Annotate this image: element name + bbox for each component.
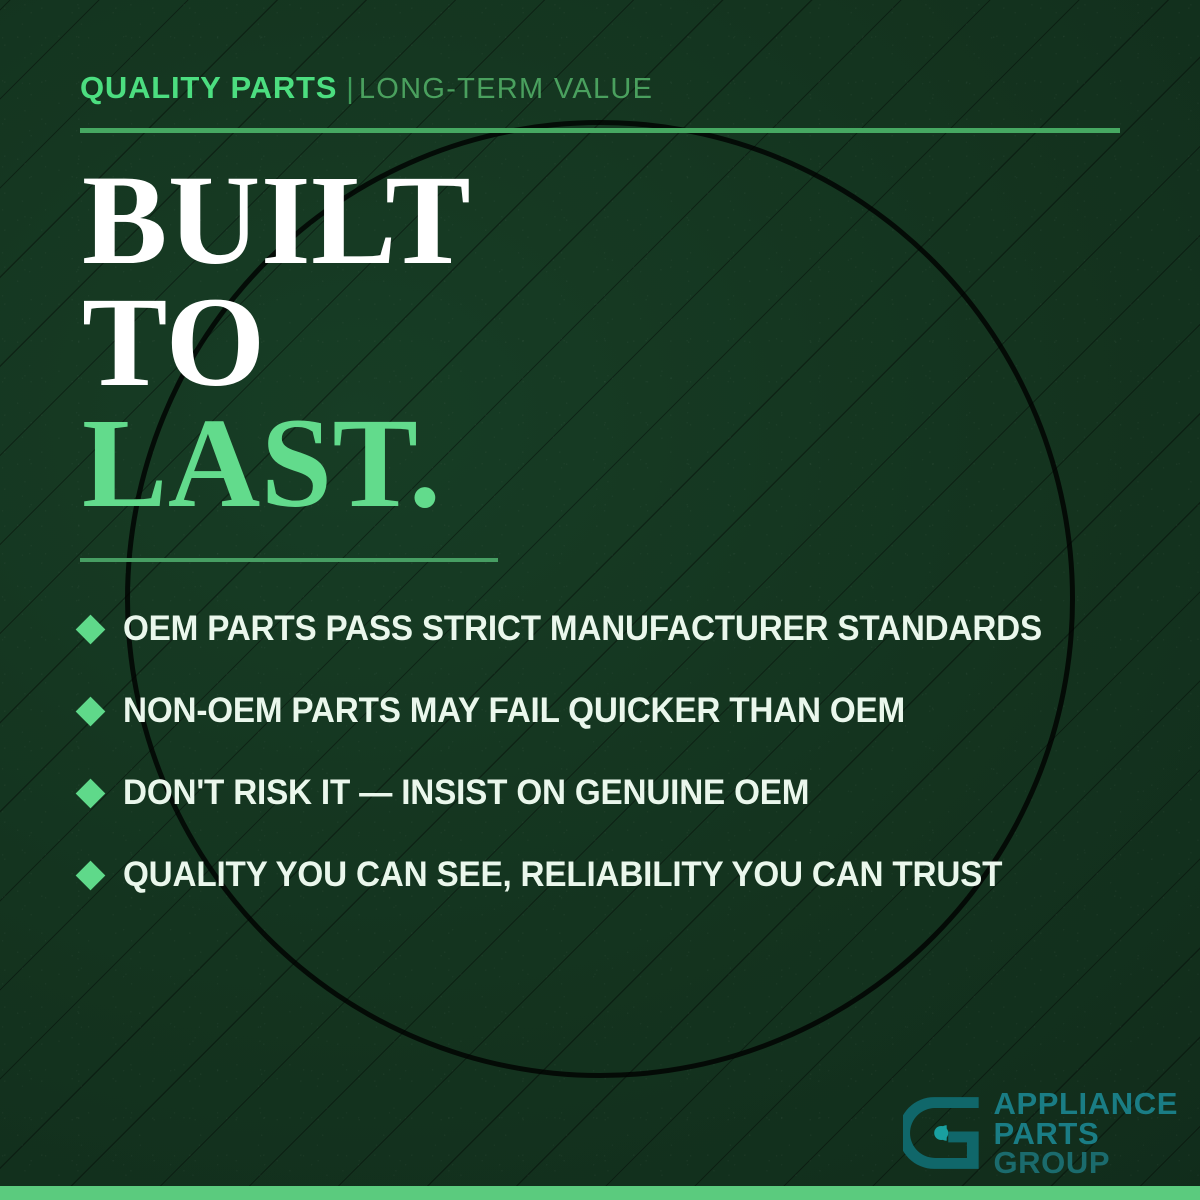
diamond-bullet-icon [76, 614, 106, 644]
kicker-sub-text: LONG-TERM VALUE [359, 73, 654, 105]
bottom-accent-bar [0, 1186, 1200, 1200]
kicker: QUALITY PARTS|LONG-TERM VALUE [80, 72, 653, 104]
list-item-label: DON'T RISK IT — INSIST ON GENUINE OEM [123, 773, 809, 813]
poster-canvas: QUALITY PARTS|LONG-TERM VALUE BUILT TO L… [0, 0, 1200, 1200]
diamond-bullet-icon [76, 860, 106, 890]
headline-line-1: BUILT [82, 160, 471, 282]
poster-content: QUALITY PARTS|LONG-TERM VALUE BUILT TO L… [0, 0, 1200, 1200]
kicker-main-text: QUALITY PARTS [80, 70, 337, 105]
headline-line-3: LAST. [82, 403, 471, 525]
brand-logo: APPLIANCE PARTS GROUP [903, 1089, 1178, 1178]
list-item: NON-OEM PARTS MAY FAIL QUICKER THAN OEM [80, 670, 1140, 752]
headline-line-2: TO [82, 282, 471, 404]
list-item-label: QUALITY YOU CAN SEE, RELIABILITY YOU CAN… [123, 855, 1002, 895]
divider-middle [80, 558, 498, 562]
kicker-separator: | [346, 73, 354, 105]
brand-word-appliance: APPLIANCE [993, 1089, 1178, 1119]
list-item-label: OEM PARTS PASS STRICT MANUFACTURER STAND… [123, 609, 1042, 649]
divider-top [80, 128, 1120, 133]
diamond-bullet-icon [76, 696, 106, 726]
list-item-label: NON-OEM PARTS MAY FAIL QUICKER THAN OEM [123, 691, 905, 731]
brand-word-parts: PARTS [993, 1119, 1178, 1149]
list-item: DON'T RISK IT — INSIST ON GENUINE OEM [80, 752, 1140, 834]
list-item: OEM PARTS PASS STRICT MANUFACTURER STAND… [80, 588, 1140, 670]
headline: BUILT TO LAST. [82, 160, 471, 525]
diamond-bullet-icon [76, 778, 106, 808]
list-item: QUALITY YOU CAN SEE, RELIABILITY YOU CAN… [80, 834, 1140, 916]
brand-wordmark: APPLIANCE PARTS GROUP [993, 1089, 1178, 1178]
benefits-list: OEM PARTS PASS STRICT MANUFACTURER STAND… [80, 588, 1140, 916]
letter-g-logo-icon [903, 1094, 981, 1172]
brand-word-group: GROUP [993, 1148, 1178, 1178]
